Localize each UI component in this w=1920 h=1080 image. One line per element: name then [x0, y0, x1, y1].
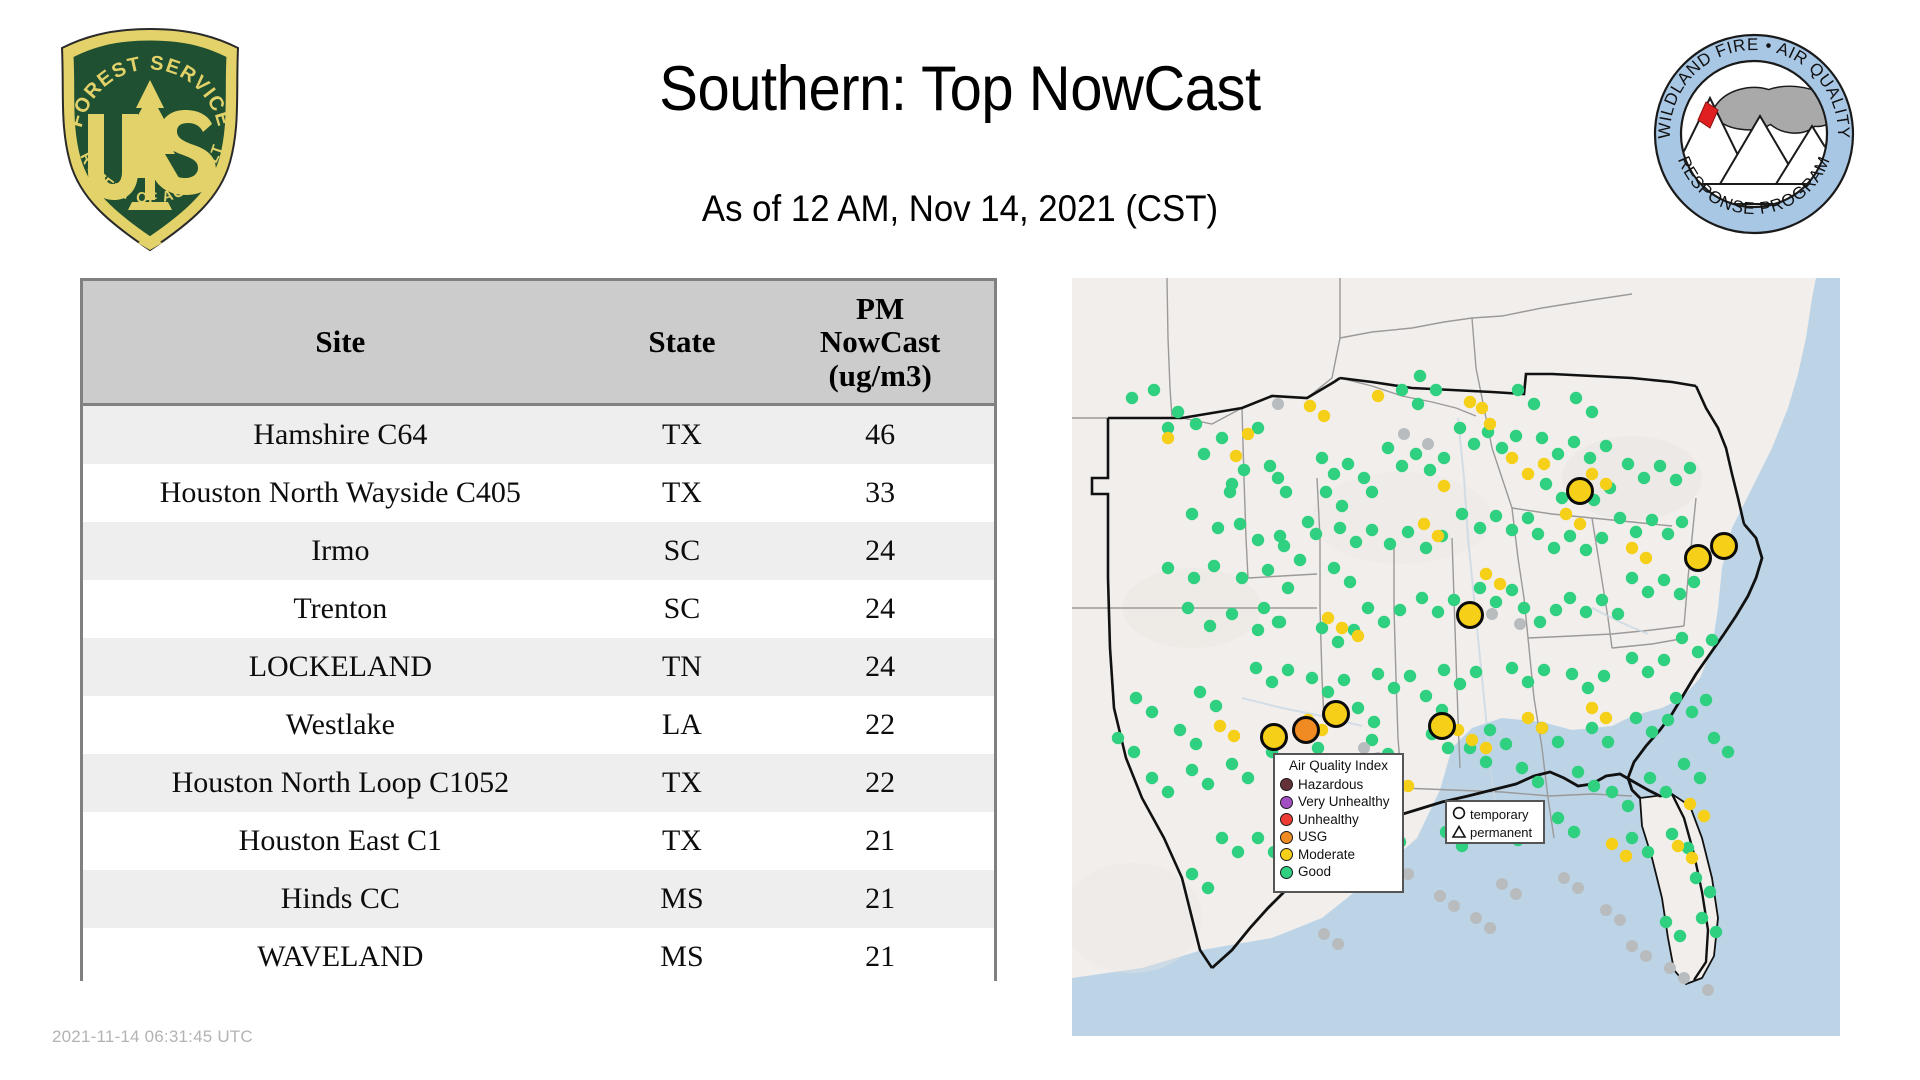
map-monitor-dot [1304, 400, 1316, 412]
map-monitor-dot [1420, 542, 1432, 554]
map-monitor-dot [1600, 712, 1612, 724]
map-top-site-marker[interactable] [1430, 714, 1455, 739]
map-monitor-dot [1564, 592, 1576, 604]
map-monitor-dot [1600, 904, 1612, 916]
map-monitor-dot [1506, 662, 1518, 674]
page-subtitle: As of 12 AM, Nov 14, 2021 (CST) [58, 190, 1863, 227]
map-monitor-dot [1336, 622, 1348, 634]
state-cell: SC [598, 522, 767, 580]
map-monitor-dot [1506, 524, 1518, 536]
map-monitor-dot [1384, 538, 1396, 550]
map-monitor-dot [1638, 472, 1650, 484]
aqi-legend-row: Very Unhealthy [1280, 793, 1397, 811]
map-monitor-dot [1424, 464, 1436, 476]
map-monitor-dot [1674, 930, 1686, 942]
map-monitor-dot [1366, 524, 1378, 536]
map-monitor-dot [1378, 616, 1390, 628]
table-row: WestlakeLA22 [83, 696, 994, 754]
table-header-row: Site State PM NowCast (ug/m3) [83, 281, 994, 405]
map-monitor-dot [1130, 692, 1142, 704]
map-monitor-dot [1226, 608, 1238, 620]
map-monitor-dot [1358, 472, 1370, 484]
map-monitor-dot [1586, 702, 1598, 714]
map-monitor-dot [1670, 692, 1682, 704]
map-monitor-dot [1322, 612, 1334, 624]
map-monitor-dot [1146, 772, 1158, 784]
table-row: Houston East C1TX21 [83, 812, 994, 870]
symbol-legend-label-permanent: permanent [1470, 826, 1532, 839]
column-header-pm-line1: PM [856, 291, 904, 326]
map-monitor-dot [1182, 602, 1194, 614]
map-monitor-dot [1510, 430, 1522, 442]
map-monitor-dot [1328, 562, 1340, 574]
state-cell: MS [598, 870, 767, 928]
map-monitor-dot [1480, 742, 1492, 754]
map-monitor-dot [1630, 526, 1642, 538]
map-top-site-marker[interactable] [1686, 546, 1711, 571]
map-monitor-dot [1278, 540, 1290, 552]
pm-nowcast-cell: 46 [766, 405, 994, 465]
map-monitor-dot [1432, 530, 1444, 542]
map-monitor-dot [1318, 928, 1330, 940]
map-monitor-dot [1664, 962, 1676, 974]
map-monitor-dot [1646, 514, 1658, 526]
map-monitor-dot [1216, 832, 1228, 844]
map-monitor-dot [1484, 418, 1496, 430]
map-monitor-dot [1564, 530, 1576, 542]
state-cell: TX [598, 754, 767, 812]
map-monitor-dot [1646, 726, 1658, 738]
state-cell: MS [598, 928, 767, 986]
map-monitor-dot [1186, 868, 1198, 880]
map-monitor-dot [1468, 438, 1480, 450]
map-monitor-dot [1470, 666, 1482, 678]
map-monitor-dot [1372, 668, 1384, 680]
map-monitor-dot [1536, 432, 1548, 444]
map-monitor-dot [1350, 536, 1362, 548]
map-monitor-dot [1678, 758, 1690, 770]
map-monitor-dot [1582, 682, 1594, 694]
map-monitor-dot [1476, 402, 1488, 414]
map-monitor-dot [1238, 464, 1250, 476]
site-cell: Houston North Loop C1052 [83, 754, 598, 812]
map-monitor-dot [1190, 418, 1202, 430]
map-monitor-dot [1586, 722, 1598, 734]
table-row: Hamshire C64TX46 [83, 405, 994, 465]
map-monitor-dot [1662, 714, 1674, 726]
map-monitor-dot [1540, 478, 1552, 490]
wfaqrp-logo: WILDLAND FIRE • AIR QUALITY RESPONSE PRO… [1648, 28, 1860, 240]
map-monitor-dot [1456, 508, 1468, 520]
map-monitor-dot [1242, 428, 1254, 440]
map-monitor-dot [1552, 812, 1564, 824]
map-monitor-dot [1600, 440, 1612, 452]
map-monitor-dot [1598, 670, 1610, 682]
map-monitor-dot [1112, 732, 1124, 744]
map-monitor-dot [1362, 602, 1374, 614]
map-monitor-dot [1198, 448, 1210, 460]
map-monitor-dot [1676, 516, 1688, 528]
map-monitor-dot [1310, 528, 1322, 540]
column-header-pm-nowcast: PM NowCast (ug/m3) [766, 281, 994, 405]
map-monitor-dot [1432, 606, 1444, 618]
circle-icon [1451, 806, 1468, 822]
map-monitor-dot [1660, 786, 1672, 798]
map-monitor-dot [1514, 618, 1526, 630]
pm-nowcast-cell: 21 [766, 812, 994, 870]
map-monitor-dot [1658, 574, 1670, 586]
map-monitor-dot [1586, 468, 1598, 480]
map-monitor-dot [1332, 938, 1344, 950]
table-row: Houston North Loop C1052TX22 [83, 754, 994, 812]
map-monitor-dot [1626, 572, 1638, 584]
aqi-legend-title: Air Quality Index [1280, 759, 1397, 774]
map-monitor-dot [1242, 772, 1254, 784]
map-monitor-dot [1500, 738, 1512, 750]
southern-region-map[interactable]: Air Quality Index HazardousVery Unhealth… [1072, 278, 1840, 1036]
aqi-legend-row: Unhealthy [1280, 811, 1397, 829]
map-monitor-dot [1642, 846, 1654, 858]
map-monitor-dot [1328, 468, 1340, 480]
map-monitor-dot [1678, 972, 1690, 984]
map-monitor-dot [1722, 746, 1734, 758]
map-monitor-dot [1660, 916, 1672, 928]
map-monitor-dot [1698, 810, 1710, 822]
map-monitor-dot [1294, 554, 1306, 566]
pm-nowcast-cell: 21 [766, 870, 994, 928]
map-monitor-dot [1442, 742, 1454, 754]
map-monitor-dot [1202, 778, 1214, 790]
column-header-state: State [598, 281, 767, 405]
symbol-legend-row-permanent: permanent [1451, 823, 1539, 841]
map-monitor-dot [1162, 432, 1174, 444]
map-monitor-dot [1684, 462, 1696, 474]
pm-nowcast-cell: 24 [766, 522, 994, 580]
aqi-swatch-icon [1280, 866, 1293, 879]
map-monitor-dot [1344, 576, 1356, 588]
state-cell: TN [598, 638, 767, 696]
map-monitor-dot [1654, 460, 1666, 472]
map-monitor-dot [1404, 670, 1416, 682]
map-monitor-dot [1250, 662, 1262, 674]
map-monitor-dot [1626, 652, 1638, 664]
map-monitor-dot [1686, 706, 1698, 718]
map-monitor-dot [1420, 690, 1432, 702]
map-monitor-dot [1382, 442, 1394, 454]
map-monitor-dot [1606, 838, 1618, 850]
map-monitor-dot [1438, 480, 1450, 492]
aqi-legend-row: Good [1280, 863, 1397, 881]
map-monitor-dot [1506, 452, 1518, 464]
aqi-swatch-icon [1280, 778, 1293, 791]
map-monitor-dot [1216, 432, 1228, 444]
map-monitor-dot [1622, 800, 1634, 812]
map-monitor-dot [1410, 448, 1422, 460]
map-monitor-dot [1448, 900, 1460, 912]
map-monitor-dot [1596, 532, 1608, 544]
map-monitor-dot [1272, 398, 1284, 410]
map-monitor-dot [1188, 572, 1200, 584]
map-monitor-dot [1690, 872, 1702, 884]
state-cell: TX [598, 405, 767, 465]
map-monitor-dot [1534, 616, 1546, 628]
map-monitor-dot [1522, 512, 1534, 524]
table-row: TrentonSC24 [83, 580, 994, 638]
map-monitor-dot [1528, 398, 1540, 410]
map-monitor-dot [1644, 772, 1656, 784]
map-monitor-dot [1580, 606, 1592, 618]
map-monitor-dot [1204, 620, 1216, 632]
map-monitor-dot [1612, 608, 1624, 620]
map-monitor-dot [1692, 646, 1704, 658]
map-monitor-dot [1512, 384, 1524, 396]
map-monitor-dot [1640, 552, 1652, 564]
pm-nowcast-cell: 33 [766, 464, 994, 522]
map-monitor-dot [1614, 512, 1626, 524]
map-monitor-dot [1506, 584, 1518, 596]
map-monitor-dot [1186, 764, 1198, 776]
map-monitor-dot [1606, 786, 1618, 798]
map-monitor-dot [1210, 700, 1222, 712]
map-monitor-dot [1318, 410, 1330, 422]
aqi-legend: Air Quality Index HazardousVery Unhealth… [1273, 753, 1404, 893]
symbol-legend-label-temporary: temporary [1470, 808, 1529, 821]
map-monitor-dot [1686, 852, 1698, 864]
map-monitor-dot [1538, 458, 1550, 470]
map-monitor-dot [1316, 452, 1328, 464]
map-monitor-dot [1640, 950, 1652, 962]
map-monitor-dot [1550, 604, 1562, 616]
map-monitor-dot [1126, 392, 1138, 404]
map-monitor-dot [1706, 634, 1718, 646]
map-monitor-dot [1464, 396, 1476, 408]
map-monitor-dot [1148, 384, 1160, 396]
map-monitor-dot [1402, 526, 1414, 538]
map-monitor-dot [1704, 886, 1716, 898]
map-monitor-dot [1368, 716, 1380, 728]
map-monitor-dot [1252, 832, 1264, 844]
map-monitor-dot [1258, 602, 1270, 614]
map-monitor-dot [1332, 636, 1344, 648]
map-monitor-dot [1486, 608, 1498, 620]
aqi-swatch-icon [1280, 796, 1293, 809]
map-monitor-dot [1280, 486, 1292, 498]
map-monitor-dot [1430, 384, 1442, 396]
pm-nowcast-cell: 22 [766, 754, 994, 812]
map-monitor-dot [1282, 582, 1294, 594]
top-nowcast-table: Site State PM NowCast (ug/m3) Hamshire C… [80, 278, 997, 981]
map-monitor-dot [1708, 732, 1720, 744]
map-monitor-dot [1484, 724, 1496, 736]
map-monitor-dot [1710, 926, 1722, 938]
map-monitor-dot [1496, 442, 1508, 454]
site-cell: Westlake [83, 696, 598, 754]
map-monitor-dot [1236, 572, 1248, 584]
map-monitor-dot [1496, 878, 1508, 890]
map-monitor-dot [1396, 460, 1408, 472]
map-monitor-dot [1352, 702, 1364, 714]
map-top-site-marker[interactable] [1712, 534, 1737, 559]
map-monitor-dot [1422, 438, 1434, 450]
map-monitor-dot [1522, 712, 1534, 724]
map-monitor-dot [1414, 370, 1426, 382]
map-monitor-dot [1372, 390, 1384, 402]
site-cell: Hamshire C64 [83, 405, 598, 465]
map-monitor-dot [1302, 516, 1314, 528]
map-monitor-dot [1306, 672, 1318, 684]
map-monitor-dot [1596, 594, 1608, 606]
site-cell: WAVELAND [83, 928, 598, 986]
map-monitor-dot [1700, 694, 1712, 706]
table-row: WAVELANDMS21 [83, 928, 994, 986]
map-monitor-dot [1162, 562, 1174, 574]
symbol-legend-row-temporary: temporary [1451, 805, 1539, 823]
map-monitor-dot [1568, 826, 1580, 838]
map-monitor-dot [1128, 746, 1140, 758]
map-monitor-dot [1666, 828, 1678, 840]
map-monitor-dot [1252, 534, 1264, 546]
pm-nowcast-cell: 24 [766, 638, 994, 696]
map-monitor-dot [1466, 734, 1478, 746]
map-monitor-dot [1448, 594, 1460, 606]
map-monitor-dot [1662, 528, 1674, 540]
map-monitor-dot [1602, 736, 1614, 748]
column-header-site: Site [83, 281, 598, 405]
map-monitor-dot [1688, 576, 1700, 588]
map-monitor-dot [1670, 474, 1682, 486]
map-monitor-dot [1566, 668, 1578, 680]
map-monitor-dot [1658, 654, 1670, 666]
map-monitor-dot [1696, 912, 1708, 924]
map-monitor-dot [1558, 872, 1570, 884]
map-monitor-dot [1694, 772, 1706, 784]
table-row: LOCKELANDTN24 [83, 638, 994, 696]
map-monitor-dot [1552, 736, 1564, 748]
map-monitor-dot [1416, 592, 1428, 604]
pm-nowcast-cell: 24 [766, 580, 994, 638]
map-monitor-dot [1338, 674, 1350, 686]
map-monitor-dot [1548, 542, 1560, 554]
map-monitor-dot [1234, 518, 1246, 530]
map-monitor-dot [1702, 984, 1714, 996]
map-monitor-dot [1230, 450, 1242, 462]
aqi-swatch-icon [1280, 848, 1293, 861]
aqi-swatch-icon [1280, 813, 1293, 826]
table-row: Hinds CCMS21 [83, 870, 994, 928]
map-monitor-dot [1336, 500, 1348, 512]
aqi-legend-label: Hazardous [1298, 778, 1363, 792]
map-monitor-dot [1388, 682, 1400, 694]
map-monitor-dot [1208, 560, 1220, 572]
map-top-site-marker[interactable] [1294, 718, 1319, 743]
column-header-pm-line2: NowCast [820, 324, 941, 359]
map-monitor-dot [1490, 510, 1502, 522]
map-monitor-dot [1552, 448, 1564, 460]
map-monitor-dot [1352, 630, 1364, 642]
map-monitor-dot [1146, 706, 1158, 718]
map-monitor-dot [1560, 508, 1572, 520]
map-monitor-dot [1252, 624, 1264, 636]
map-monitor-dot [1626, 940, 1638, 952]
map-monitor-dot [1412, 398, 1424, 410]
map-monitor-dot [1620, 850, 1632, 862]
aqi-legend-label: Moderate [1298, 848, 1355, 862]
map-monitor-dot [1212, 522, 1224, 534]
map-monitor-dot [1684, 798, 1696, 810]
map-monitor-dot [1194, 686, 1206, 698]
map-monitor-dot [1434, 890, 1446, 902]
generated-timestamp: 2021-11-14 06:31:45 UTC [52, 1027, 253, 1047]
map-monitor-dot [1516, 762, 1528, 774]
table-row: IrmoSC24 [83, 522, 994, 580]
map-monitor-dot [1600, 478, 1612, 490]
map-monitor-dot [1586, 406, 1598, 418]
map-monitor-dot [1454, 678, 1466, 690]
map-monitor-dot [1672, 840, 1684, 852]
map-monitor-dot [1162, 786, 1174, 798]
map-monitor-dot [1174, 724, 1186, 736]
map-top-site-marker[interactable] [1458, 603, 1483, 628]
map-monitor-dot [1570, 392, 1582, 404]
map-monitor-dot [1642, 586, 1654, 598]
map-top-site-marker[interactable] [1262, 725, 1287, 750]
map-monitor-dot [1536, 722, 1548, 734]
column-header-pm-line3: (ug/m3) [828, 358, 931, 393]
map-monitor-dot [1438, 664, 1450, 676]
map-monitor-dot [1674, 588, 1686, 600]
map-top-site-marker[interactable] [1568, 479, 1593, 504]
map-monitor-dot [1172, 406, 1184, 418]
aqi-legend-row: Hazardous [1280, 776, 1397, 794]
map-monitor-dot [1282, 664, 1294, 676]
aqi-legend-label: Very Unhealthy [1298, 795, 1390, 809]
site-cell: LOCKELAND [83, 638, 598, 696]
map-monitor-dot [1366, 486, 1378, 498]
map-monitor-dot [1568, 436, 1580, 448]
map-monitor-dot [1320, 486, 1332, 498]
aqi-legend-row: Moderate [1280, 846, 1397, 864]
triangle-icon [1451, 824, 1468, 840]
map-monitor-dot [1522, 676, 1534, 688]
map-monitor-dot [1630, 712, 1642, 724]
map-monitor-dot [1342, 458, 1354, 470]
map-monitor-dot [1572, 882, 1584, 894]
map-monitor-dot [1532, 776, 1544, 788]
map-monitor-dot [1584, 452, 1596, 464]
map-monitor-dot [1642, 666, 1654, 678]
site-cell: Houston North Wayside C405 [83, 464, 598, 522]
map-monitor-dot [1272, 472, 1284, 484]
map-top-site-marker[interactable] [1324, 702, 1349, 727]
symbol-legend: temporary permanent [1445, 800, 1545, 844]
map-monitor-dot [1470, 912, 1482, 924]
map-monitor-dot [1454, 422, 1466, 434]
aqi-legend-label: Unhealthy [1298, 813, 1359, 827]
map-monitor-dot [1494, 578, 1506, 590]
map-monitor-dot [1538, 664, 1550, 676]
aqi-legend-row: USG [1280, 828, 1397, 846]
map-monitor-dot [1626, 542, 1638, 554]
map-monitor-dot [1322, 686, 1334, 698]
map-monitor-dot [1614, 914, 1626, 926]
map-monitor-dot [1622, 458, 1634, 470]
map-monitor-dot [1676, 632, 1688, 644]
site-cell: Trenton [83, 580, 598, 638]
map-monitor-dot [1232, 846, 1244, 858]
map-monitor-dot [1226, 758, 1238, 770]
aqi-legend-label: Good [1298, 865, 1331, 879]
map-monitor-dot [1474, 582, 1486, 594]
